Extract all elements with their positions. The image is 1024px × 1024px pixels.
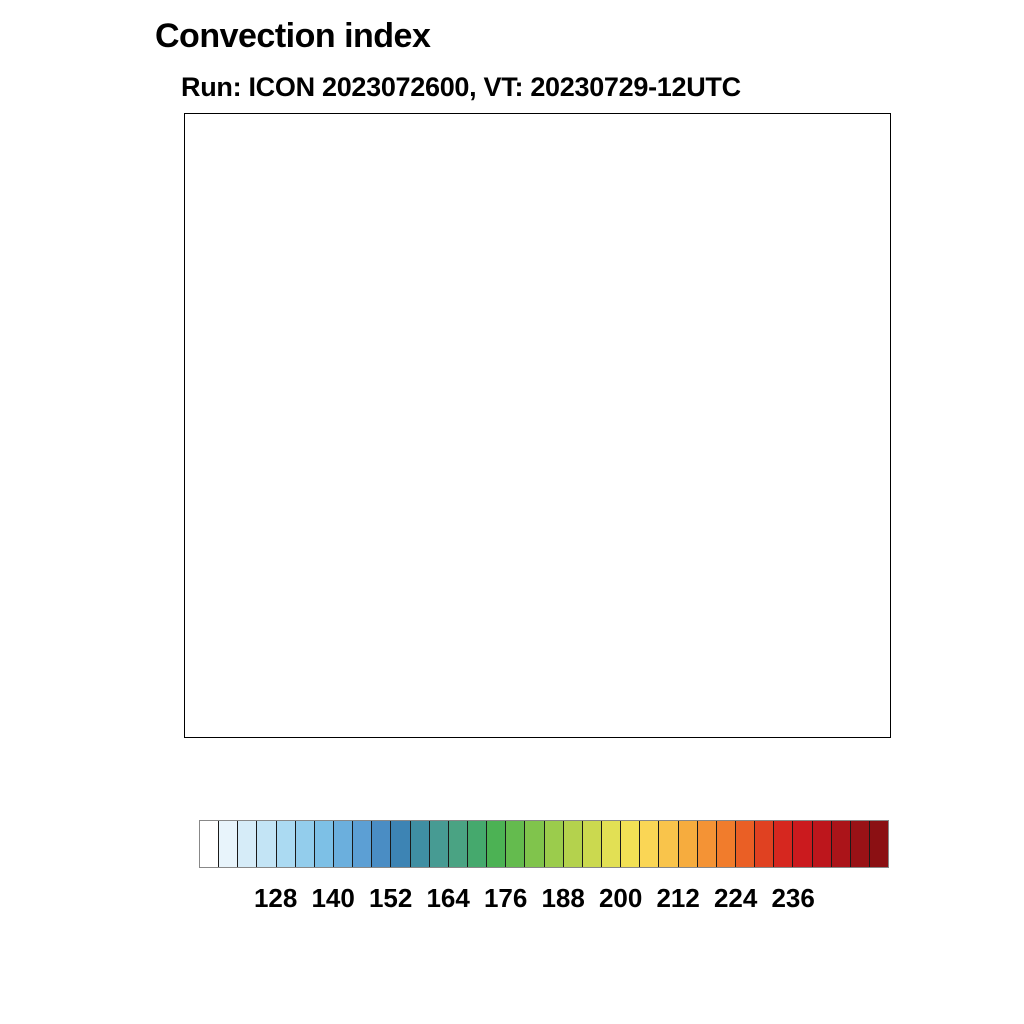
colorbar-cell	[564, 821, 583, 867]
colorbar-cell	[813, 821, 832, 867]
colorbar-cell	[717, 821, 736, 867]
colorbar-cells	[199, 820, 889, 868]
colorbar-cell	[468, 821, 487, 867]
colorbar-cell	[411, 821, 430, 867]
colorbar-cell	[334, 821, 353, 867]
colorbar-cell	[277, 821, 296, 867]
colorbar-cell	[296, 821, 315, 867]
colorbar-cell	[755, 821, 774, 867]
convection-index-map	[185, 114, 890, 737]
colorbar-cell	[430, 821, 449, 867]
colorbar-cell	[449, 821, 468, 867]
colorbar	[199, 820, 889, 868]
colorbar-cell	[583, 821, 602, 867]
colorbar-cell	[640, 821, 659, 867]
colorbar-cell	[736, 821, 755, 867]
colorbar-cell	[698, 821, 717, 867]
colorbar-cell	[659, 821, 678, 867]
colorbar-cell	[200, 821, 219, 867]
colorbar-cell	[238, 821, 257, 867]
colorbar-cell	[774, 821, 793, 867]
colorbar-cell	[506, 821, 525, 867]
colorbar-cell	[851, 821, 870, 867]
colorbar-cell	[545, 821, 564, 867]
map-frame	[184, 113, 891, 738]
colorbar-cell	[832, 821, 851, 867]
colorbar-cell	[621, 821, 640, 867]
colorbar-cell	[679, 821, 698, 867]
colorbar-cell	[219, 821, 238, 867]
colorbar-cell	[870, 821, 888, 867]
colorbar-cell	[487, 821, 506, 867]
colorbar-cell	[793, 821, 812, 867]
colorbar-cell	[353, 821, 372, 867]
colorbar-cell	[391, 821, 410, 867]
colorbar-tick-label: 236	[757, 883, 829, 914]
colorbar-cell	[372, 821, 391, 867]
colorbar-cell	[257, 821, 276, 867]
page-subtitle: Run: ICON 2023072600, VT: 20230729-12UTC	[181, 72, 741, 103]
colorbar-cell	[315, 821, 334, 867]
page-title: Convection index	[155, 17, 430, 56]
colorbar-cell	[602, 821, 621, 867]
colorbar-cell	[525, 821, 544, 867]
